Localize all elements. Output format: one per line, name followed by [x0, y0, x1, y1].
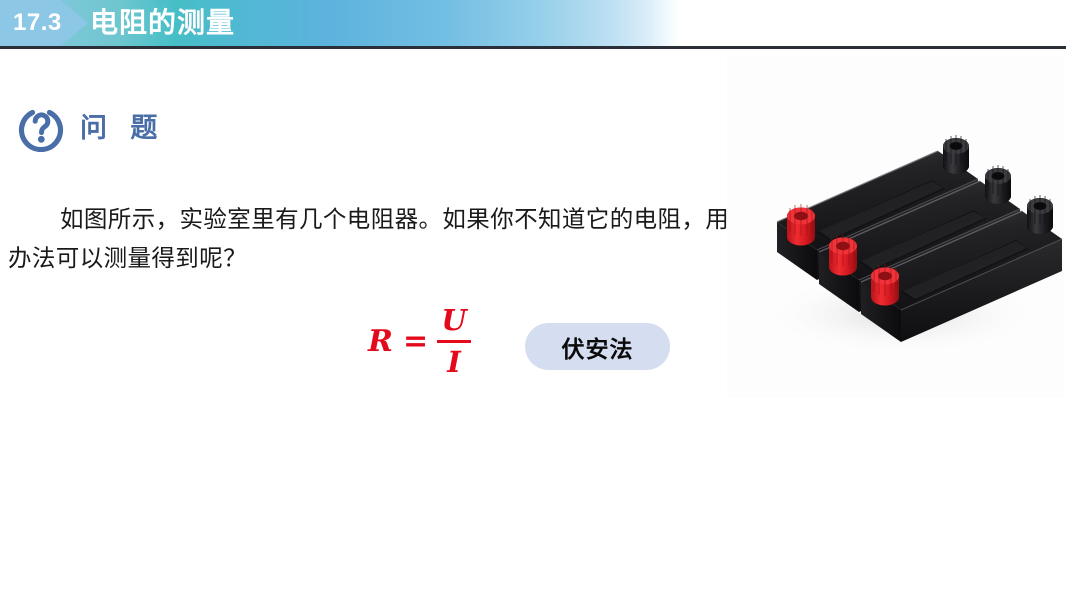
- resistor-photo: [727, 56, 1064, 398]
- method-badge: 伏安法: [525, 323, 670, 370]
- formula-fraction: U I: [437, 306, 471, 377]
- formula-equals: =: [403, 327, 428, 357]
- section-number: 17.3: [13, 6, 62, 40]
- formula-numerator: U: [441, 306, 466, 337]
- question-section-label: 问 题: [80, 115, 164, 144]
- page-title: 电阻的测量: [90, 3, 235, 43]
- slide-header-bar: 17.3 电阻的测量: [0, 0, 1066, 46]
- header-divider: [0, 46, 1066, 49]
- resistance-formula: R = U I: [368, 306, 471, 377]
- formula-fraction-bar: [437, 340, 471, 343]
- question-section-heading: 问 题: [18, 104, 164, 154]
- formula-denominator: I: [447, 346, 461, 377]
- question-body-text: 如图所示，实验室里有几个电阻器。如果你不知道它的电阻，用什么办法可以测量得到呢？: [8, 200, 798, 278]
- question-mark-circle-icon: [18, 106, 64, 152]
- formula-lhs: R: [368, 327, 393, 357]
- method-badge-label: 伏安法: [562, 330, 634, 364]
